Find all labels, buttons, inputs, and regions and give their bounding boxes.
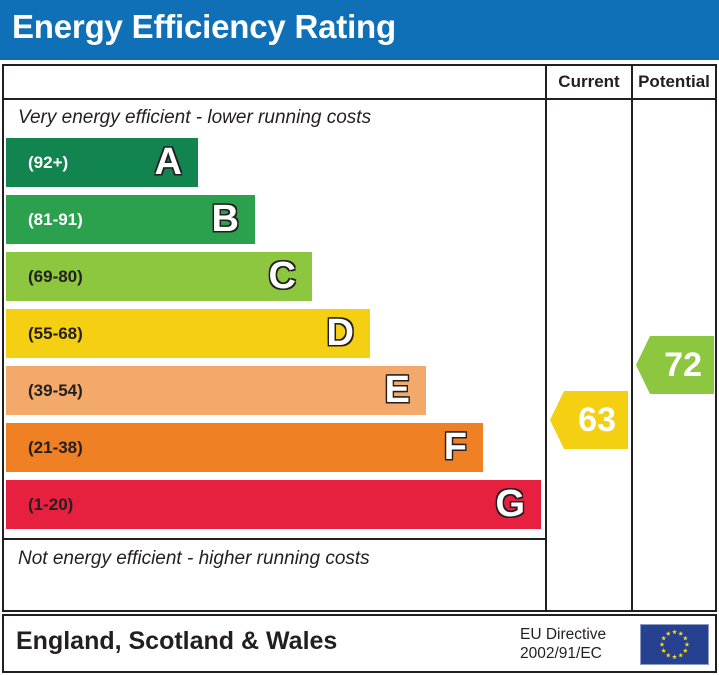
- column-divider-potential: [631, 100, 633, 610]
- footer-region-label: England, Scotland & Wales: [16, 627, 337, 656]
- rating-band-c: (69-80)C: [6, 252, 312, 301]
- band-range-label-d: (55-68): [28, 309, 83, 358]
- footer-directive: EU Directive 2002/91/EC: [520, 625, 606, 663]
- band-range-label-g: (1-20): [28, 480, 73, 529]
- band-letter-f: F: [444, 423, 467, 472]
- energy-efficiency-certificate: Energy Efficiency Rating Current Potenti…: [0, 0, 719, 675]
- column-header-current: Current: [545, 66, 631, 98]
- band-letter-b: B: [212, 195, 239, 244]
- current-rating-value: 63: [578, 401, 616, 440]
- rating-band-d: (55-68)D: [6, 309, 370, 358]
- potential-rating-value: 72: [664, 346, 702, 385]
- band-range-label-e: (39-54): [28, 366, 83, 415]
- band-letter-d: D: [327, 309, 354, 358]
- caption-very-efficient: Very energy efficient - lower running co…: [4, 100, 545, 136]
- band-range-label-b: (81-91): [28, 195, 83, 244]
- band-letter-a: A: [155, 138, 182, 187]
- directive-line-1: EU Directive: [520, 625, 606, 644]
- band-range-label-f: (21-38): [28, 423, 83, 472]
- page-title: Energy Efficiency Rating: [12, 8, 396, 46]
- band-range-label-c: (69-80): [28, 252, 83, 301]
- title-bar: Energy Efficiency Rating: [0, 0, 719, 60]
- band-letter-c: C: [269, 252, 296, 301]
- eu-flag-icon: [640, 624, 709, 665]
- band-letter-g: G: [495, 480, 525, 529]
- column-header-potential: Potential: [631, 66, 715, 98]
- band-letter-e: E: [385, 366, 410, 415]
- current-rating-badge: 63: [550, 391, 628, 449]
- rating-band-g: (1-20)G: [6, 480, 541, 529]
- rating-bands: (92+)A(81-91)B(69-80)C(55-68)D(39-54)E(2…: [4, 138, 545, 538]
- rating-band-e: (39-54)E: [6, 366, 426, 415]
- potential-rating-badge: 72: [636, 336, 714, 394]
- caption-not-efficient: Not energy efficient - higher running co…: [4, 538, 545, 576]
- rating-chart-frame: Current Potential Very energy efficient …: [2, 64, 717, 612]
- rating-band-f: (21-38)F: [6, 423, 483, 472]
- band-range-label-a: (92+): [28, 138, 68, 187]
- table-header-row: Current Potential: [4, 66, 715, 100]
- rating-band-a: (92+)A: [6, 138, 198, 187]
- directive-line-2: 2002/91/EC: [520, 644, 606, 663]
- column-divider-current: [545, 100, 547, 610]
- footer-bar: England, Scotland & Wales EU Directive 2…: [2, 614, 717, 673]
- rating-band-b: (81-91)B: [6, 195, 255, 244]
